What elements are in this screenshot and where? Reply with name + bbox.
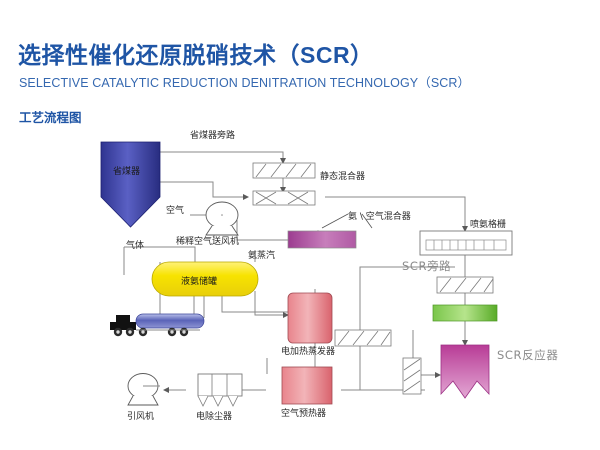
flue-gas-damper[interactable] — [335, 330, 391, 346]
catalyst-layer[interactable] — [433, 305, 497, 321]
label-air: 空气 — [166, 203, 184, 216]
label-ammonia-air-mixer: 氨 \ 空气混合器 — [348, 209, 411, 222]
label-liquid-ammonia-tank: 液氨储罐 — [181, 274, 217, 287]
dilution-air-fan[interactable] — [206, 202, 238, 235]
label-scr-bypass: SCR旁路 — [402, 258, 451, 274]
label-scr-reactor: SCR反应器 — [497, 347, 558, 363]
label-dilution-air-fan: 稀释空气送风机 — [176, 234, 239, 247]
static-mixer[interactable] — [253, 191, 315, 205]
label-static-mixer: 静态混合器 — [320, 169, 365, 182]
label-air-preheater: 空气预热器 — [281, 406, 326, 419]
scr-reactor[interactable] — [441, 345, 489, 398]
economizer[interactable] — [101, 142, 160, 227]
reactor-inlet-damper[interactable] — [403, 358, 421, 394]
id-fan[interactable] — [128, 374, 160, 406]
label-ammonia-injection-grid: 喷氨格栅 — [470, 217, 506, 230]
label-ammonia-vapor: 氨蒸汽 — [248, 248, 275, 261]
label-economizer: 省煤器 — [113, 164, 140, 177]
bypass-damper[interactable] — [253, 163, 315, 178]
electrostatic-precipitator[interactable] — [198, 374, 242, 406]
label-id-fan: 引风机 — [127, 409, 154, 422]
label-electric-heater-evaporator: 电加热蒸发器 — [281, 344, 335, 357]
label-gas: 气体 — [126, 238, 144, 251]
label-economizer-bypass: 省煤器旁路 — [190, 128, 235, 141]
process-flow-diagram — [0, 0, 600, 450]
slide-canvas: 选择性催化还原脱硝技术（SCR） SELECTIVE CATALYTIC RED… — [0, 0, 600, 450]
electric-heater-evaporator[interactable] — [288, 293, 332, 343]
tanker-truck[interactable] — [110, 314, 204, 336]
scr-bypass-damper[interactable] — [437, 277, 493, 293]
ammonia-injection-grid[interactable] — [420, 231, 512, 255]
air-preheater[interactable] — [282, 367, 332, 404]
label-esp: 电除尘器 — [196, 409, 232, 422]
